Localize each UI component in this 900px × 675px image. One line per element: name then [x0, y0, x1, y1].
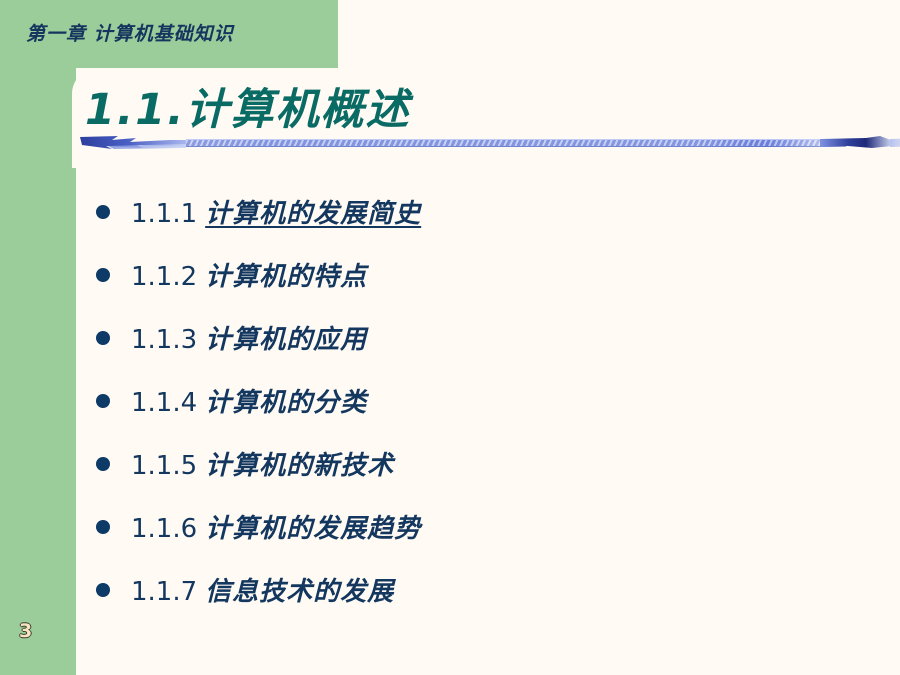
list-item-number: 1.1.7: [131, 577, 197, 607]
bullet-dot-icon: [96, 268, 110, 282]
list-item-text[interactable]: 1.1.7信息技术的发展: [131, 571, 394, 608]
divider-bar: [186, 139, 846, 147]
list-item[interactable]: 1.1.7信息技术的发展: [96, 558, 856, 621]
list-item-number: 1.1.3: [131, 325, 197, 355]
left-green-sidebar: [0, 0, 76, 675]
presentation-slide: 第一章 计算机基础知识 1.1.计算机概述: [0, 0, 900, 675]
list-item-label: 计算机的发展趋势: [205, 514, 421, 544]
list-item-number: 1.1.5: [131, 451, 197, 481]
list-item-number: 1.1.4: [131, 388, 197, 418]
list-item-label: 信息技术的发展: [205, 577, 394, 607]
list-item-text[interactable]: 1.1.3计算机的应用: [131, 319, 367, 356]
bullet-dot-icon: [96, 457, 110, 471]
bullet-dot-icon: [96, 520, 110, 534]
bullet-dot-icon: [96, 394, 110, 408]
list-item-label: 计算机的新技术: [205, 451, 394, 481]
list-item-label[interactable]: 计算机的发展简史: [205, 199, 421, 229]
list-item[interactable]: 1.1.4计算机的分类: [96, 369, 856, 432]
list-item[interactable]: 1.1.6计算机的发展趋势: [96, 495, 856, 558]
list-item-number: 1.1.2: [131, 262, 197, 292]
list-item-label: 计算机的特点: [205, 262, 367, 292]
list-item-label: 计算机的应用: [205, 325, 367, 355]
slide-title: 1.1.计算机概述: [85, 75, 411, 137]
list-item[interactable]: 1.1.5计算机的新技术: [96, 432, 856, 495]
list-item-number: 1.1.1: [131, 199, 197, 229]
bullet-dot-icon: [96, 331, 110, 345]
bullet-dot-icon: [96, 205, 110, 219]
list-item-text[interactable]: 1.1.5计算机的新技术: [131, 445, 394, 482]
decorative-divider: [78, 132, 878, 154]
list-item-text[interactable]: 1.1.4计算机的分类: [131, 382, 367, 419]
list-item-text[interactable]: 1.1.1计算机的发展简史: [131, 193, 421, 230]
divider-right-arrow-icon: [820, 132, 900, 154]
page-number: 3: [19, 620, 32, 642]
list-item[interactable]: 1.1.3计算机的应用: [96, 306, 856, 369]
list-item-label: 计算机的分类: [205, 388, 367, 418]
list-item-text[interactable]: 1.1.6计算机的发展趋势: [131, 508, 421, 545]
divider-left-arrow-icon: [78, 132, 208, 154]
outline-bullet-list: 1.1.1计算机的发展简史 1.1.2计算机的特点 1.1.3计算机的应用 1.…: [96, 180, 856, 621]
list-item[interactable]: 1.1.1计算机的发展简史: [96, 180, 856, 243]
list-item-text[interactable]: 1.1.2计算机的特点: [131, 256, 367, 293]
list-item-number: 1.1.6: [131, 514, 197, 544]
bullet-dot-icon: [96, 583, 110, 597]
chapter-header-title: 第一章 计算机基础知识: [26, 19, 336, 46]
list-item[interactable]: 1.1.2计算机的特点: [96, 243, 856, 306]
